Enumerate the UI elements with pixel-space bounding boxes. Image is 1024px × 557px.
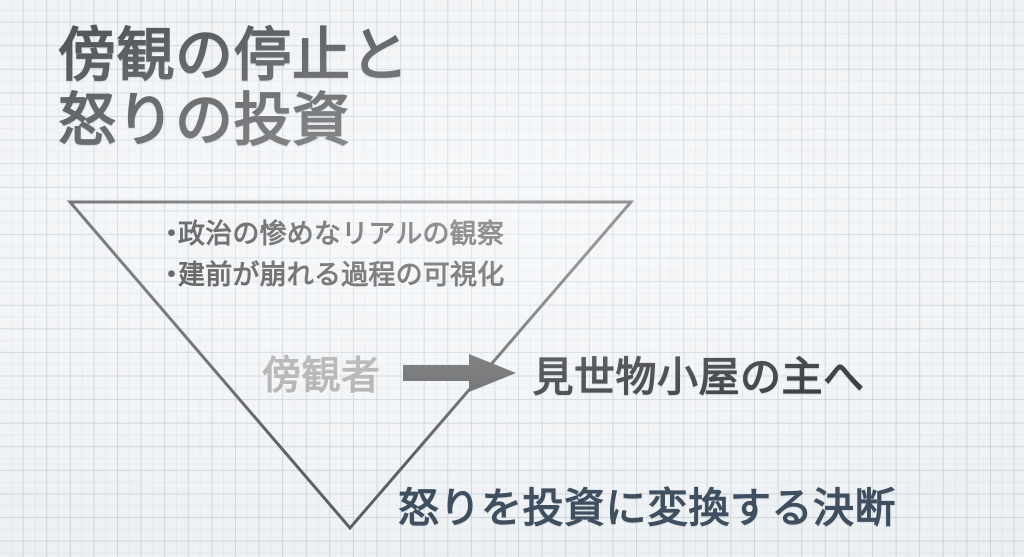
transition-to-label: 見世物小屋の主へ (533, 343, 865, 403)
title-line-2: 怒りの投資 (58, 89, 409, 154)
transition-from-label: 傍観者 (262, 345, 381, 401)
list-item: ・建前が崩れる過程の可視化 (158, 255, 504, 296)
bullet-dot-icon: ・ (158, 214, 178, 255)
slide-canvas: 傍観の停止と 怒りの投資 ・政治の惨めなリアルの観察 ・建前が崩れる過程の可視化… (0, 0, 1024, 557)
page-title: 傍観の停止と 怒りの投資 (58, 24, 409, 154)
list-item: ・政治の惨めなリアルの観察 (158, 214, 504, 255)
transition-row: 傍観者 見世物小屋の主へ (262, 346, 865, 400)
list-item-label: 政治の惨めなリアルの観察 (178, 219, 504, 249)
bullet-dot-icon: ・ (158, 255, 178, 296)
conclusion-text: 怒りを投資に変換する決断 (398, 474, 896, 534)
list-item-label: 建前が崩れる過程の可視化 (178, 260, 504, 290)
right-arrow-icon (403, 353, 517, 393)
title-line-1: 傍観の停止と (58, 24, 409, 89)
bullet-list: ・政治の惨めなリアルの観察 ・建前が崩れる過程の可視化 (158, 214, 504, 296)
